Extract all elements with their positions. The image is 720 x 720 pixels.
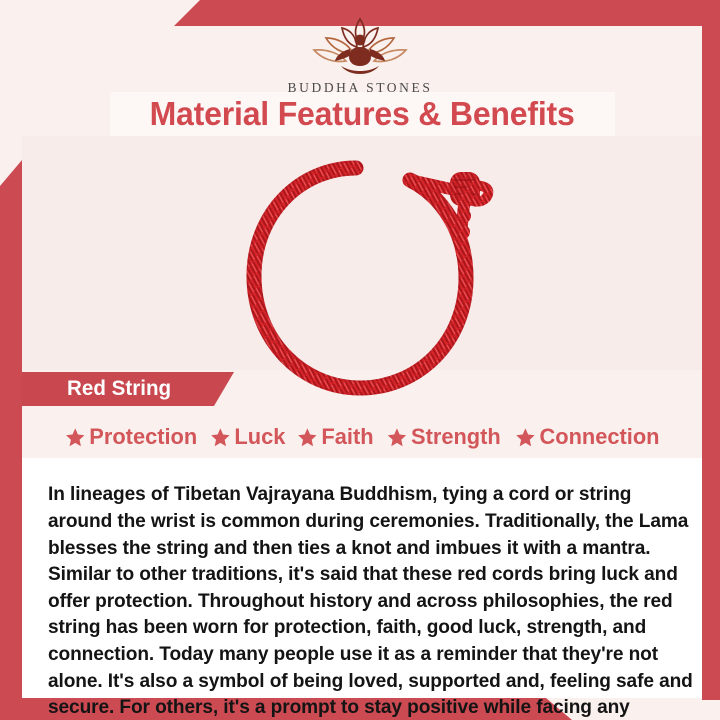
description-text: In lineages of Tibetan Vajrayana Buddhis… — [48, 481, 698, 720]
feature-label: Strength — [411, 424, 501, 450]
star-icon — [65, 427, 85, 448]
star-icon — [298, 427, 318, 448]
frame-bar-left — [0, 160, 22, 720]
frame-bar-right — [702, 0, 720, 700]
feature-item-faith: Faith — [293, 424, 379, 450]
feature-item-connection: Connection — [510, 424, 664, 450]
star-icon — [387, 427, 407, 448]
brand-logo: BUDDHA STONES — [0, 16, 720, 96]
feature-label: Faith — [322, 424, 374, 450]
description-panel: In lineages of Tibetan Vajrayana Buddhis… — [22, 458, 702, 698]
infographic-page: BUDDHA STONES Material Features & Benefi… — [0, 0, 720, 720]
feature-item-strength: Strength — [382, 424, 506, 450]
feature-label: Luck — [234, 424, 285, 450]
product-name-label: Red String — [67, 377, 171, 401]
feature-item-luck: Luck — [205, 424, 290, 450]
feature-label: Protection — [89, 424, 197, 450]
product-name-tag: Red String — [22, 372, 234, 406]
star-icon — [515, 427, 535, 448]
red-braided-cord-bracelet-icon — [228, 156, 500, 400]
feature-item-protection: Protection — [60, 424, 202, 450]
title-banner: Material Features & Benefits — [110, 92, 615, 136]
lotus-meditation-figure-icon — [304, 16, 416, 78]
page-title: Material Features & Benefits — [150, 95, 575, 133]
feature-list: Protection Luck Faith Strength Connectio… — [22, 420, 702, 454]
feature-label: Connection — [539, 424, 659, 450]
star-icon — [210, 427, 230, 448]
